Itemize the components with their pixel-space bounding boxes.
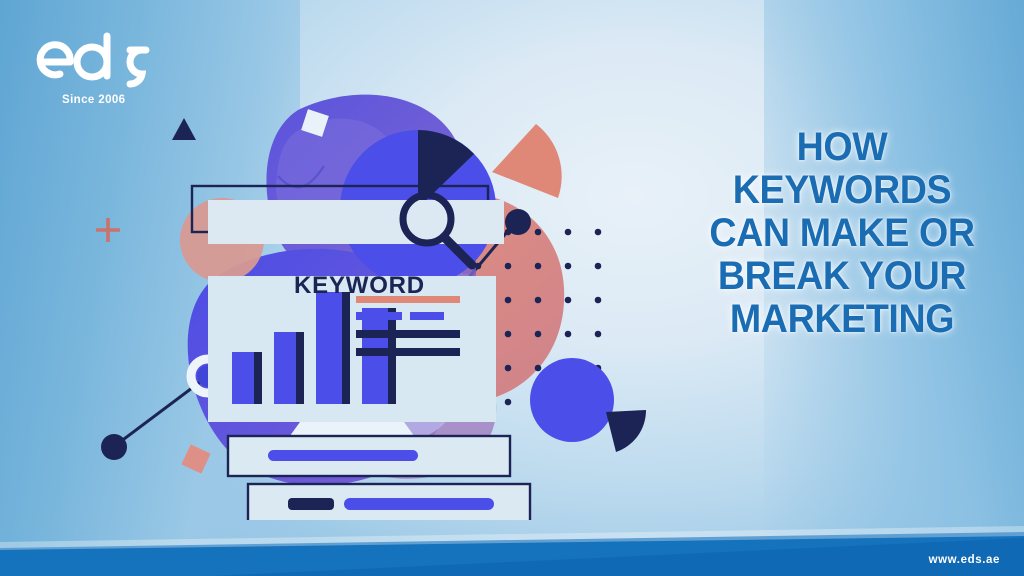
- footer-shape: [0, 516, 1024, 576]
- page-title: HOW KEYWORDS CAN MAKE OR BREAK YOUR MARK…: [677, 126, 1008, 341]
- input-row-1: [228, 436, 510, 476]
- line-graph-node: [505, 209, 531, 235]
- poster-canvas: Since 2006: [0, 0, 1024, 576]
- plus-coral-icon: [96, 218, 120, 242]
- search-bar-field: [208, 200, 504, 244]
- square-coral-accent: [181, 444, 210, 473]
- headline-line-3: CAN MAKE OR: [677, 212, 1008, 255]
- node-dot-navy: [101, 434, 127, 460]
- footer-band: www.eds.ae: [0, 516, 1024, 576]
- bar-1: [232, 352, 254, 404]
- illustration-svg: [60, 80, 680, 520]
- keyword-illustration: KEYWORD: [60, 80, 680, 520]
- pie-slice-coral-exploded: [492, 124, 562, 198]
- headline-line-2: KEYWORDS: [677, 169, 1008, 212]
- footer-website-url[interactable]: www.eds.ae: [929, 554, 1000, 566]
- pie-chart-small: [530, 358, 646, 452]
- chart-card: [208, 276, 496, 444]
- bar-2: [274, 332, 296, 404]
- bar-3: [316, 292, 342, 404]
- triangle-navy-icon: [172, 118, 196, 140]
- pie-slice-small-navy: [606, 410, 646, 452]
- headline-line-5: MARKETING: [677, 298, 1008, 341]
- headline-line-4: BREAK YOUR: [677, 255, 1008, 298]
- input-row-2: [248, 484, 530, 520]
- headline-line-1: HOW: [677, 126, 1008, 169]
- search-query-text: KEYWORD: [294, 272, 425, 300]
